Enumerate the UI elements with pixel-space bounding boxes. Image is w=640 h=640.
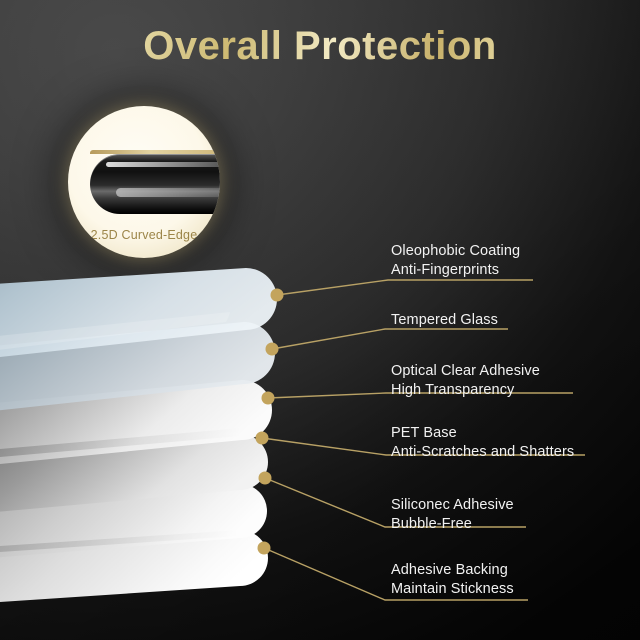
curved-edge-inset: 2.5D Curved-Edge: [68, 106, 220, 258]
inset-caption: 2.5D Curved-Edge: [68, 228, 220, 242]
callout-line1: Siliconec Adhesive: [391, 496, 514, 515]
callout-line2: Anti-Fingerprints: [391, 261, 520, 280]
callout-adhesive-backing: Adhesive Backing Maintain Stickness: [391, 561, 514, 599]
page-title: Overall Protection: [0, 24, 640, 69]
callout-line2: Bubble-Free: [391, 515, 514, 534]
callout-line1: Optical Clear Adhesive: [391, 362, 540, 381]
callout-line1: Tempered Glass: [391, 311, 498, 330]
layer-stack: [0, 250, 400, 610]
inset-phone-edge-illustration: [90, 154, 220, 214]
callout-line1: PET Base: [391, 424, 574, 443]
callout-line2: Anti-Scratches and Shatters: [391, 443, 574, 462]
callout-tempered-glass: Tempered Glass: [391, 311, 498, 330]
callout-line2: Maintain Stickness: [391, 580, 514, 599]
product-infographic: Overall Protection 2.5D Curved-Edge: [0, 0, 640, 640]
callout-pet-base: PET Base Anti-Scratches and Shatters: [391, 424, 574, 462]
callout-optical-adhesive: Optical Clear Adhesive High Transparency: [391, 362, 540, 400]
callout-line1: Oleophobic Coating: [391, 242, 520, 261]
callout-line1: Adhesive Backing: [391, 561, 514, 580]
callout-siliconec-adhesive: Siliconec Adhesive Bubble-Free: [391, 496, 514, 534]
callout-oleophobic-coating: Oleophobic Coating Anti-Fingerprints: [391, 242, 520, 280]
callout-line2: High Transparency: [391, 381, 540, 400]
